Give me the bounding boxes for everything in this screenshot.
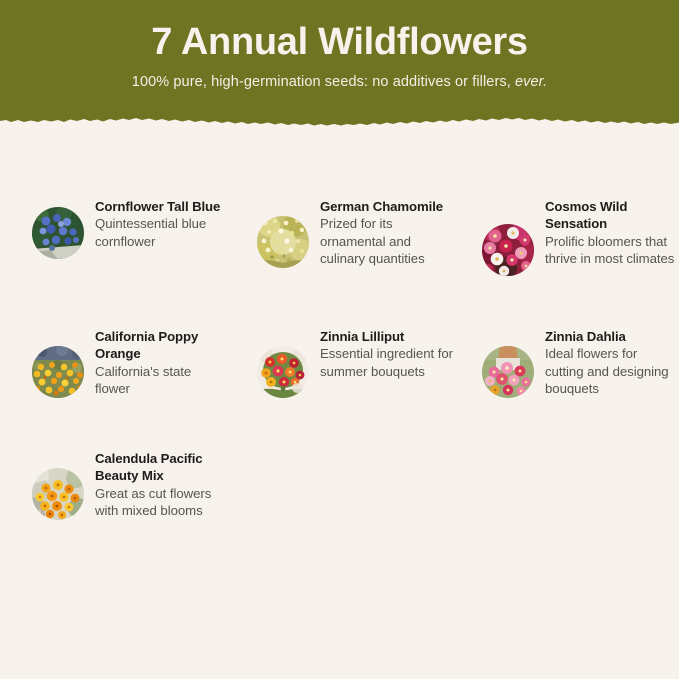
list-item[interactable]: California Poppy Orange California's sta… [32,328,229,398]
list-item-empty [257,450,454,520]
list-item[interactable]: Zinnia Lilliput Essential ingredient for… [257,328,454,398]
zinnia-lilliput-thumbnail [257,346,309,398]
flower-list: Cornflower Tall Blue Quintessential blue… [0,150,679,520]
list-item-description: Quintessential blue cornflower [95,215,229,250]
list-item-copy: Zinnia Dahlia Ideal flowers for cutting … [545,328,679,398]
list-item-title: Zinnia Dahlia [545,328,679,345]
list-item-copy: Cornflower Tall Blue Quintessential blue… [95,198,229,250]
list-item-description: Ideal flowers for cutting and designing … [545,345,679,397]
zinnia-dahlia-thumbnail [482,346,534,398]
calendula-pacific-beauty-mix-thumbnail [32,468,84,520]
list-item-copy: California Poppy Orange California's sta… [95,328,229,398]
list-item[interactable]: German Chamomile Prized for its ornament… [257,198,454,276]
list-item-title: Cornflower Tall Blue [95,198,229,215]
list-item-description: California's state flower [95,363,229,398]
list-item[interactable]: Zinnia Dahlia Ideal flowers for cutting … [482,328,679,398]
list-item-title: California Poppy Orange [95,328,229,363]
list-item[interactable]: Calendula Pacific Beauty Mix Great as cu… [32,450,229,520]
list-item-description: Prized for its ornamental and culinary q… [320,215,454,267]
page-subtitle: 100% pure, high-germination seeds: no ad… [132,74,547,90]
list-item[interactable]: Cornflower Tall Blue Quintessential blue… [32,198,229,276]
flower-row: Calendula Pacific Beauty Mix Great as cu… [0,450,679,520]
page-header: 7 Annual Wildflowers 100% pure, high-ger… [0,0,679,140]
list-item-empty [482,450,679,520]
list-item-title: Calendula Pacific Beauty Mix [95,450,229,485]
california-poppy-orange-thumbnail [32,346,84,398]
torn-paper-edge [0,107,679,141]
list-item[interactable]: Cosmos Wild Sensation Prolific bloomers … [482,198,679,276]
page-subtitle-main: 100% pure, high-germination seeds: no ad… [132,74,511,90]
page-subtitle-emphasis: ever. [515,74,547,90]
flower-row: California Poppy Orange California's sta… [0,328,679,398]
list-item-description: Essential ingredient for summer bouquets [320,345,454,380]
cosmos-wild-sensation-thumbnail [482,224,534,276]
cornflower-tall-blue-thumbnail [32,207,84,259]
list-item-copy: German Chamomile Prized for its ornament… [320,198,454,268]
german-chamomile-thumbnail [257,216,309,268]
page-title: 7 Annual Wildflowers [151,22,528,64]
flower-row: Cornflower Tall Blue Quintessential blue… [0,198,679,276]
list-item-copy: Cosmos Wild Sensation Prolific bloomers … [545,198,679,268]
list-item-title: German Chamomile [320,198,454,215]
list-item-description: Prolific bloomers that thrive in most cl… [545,233,679,268]
header-text-block: 7 Annual Wildflowers 100% pure, high-ger… [0,0,679,120]
list-item-description: Great as cut flowers with mixed blooms [95,485,229,520]
list-item-title: Cosmos Wild Sensation [545,198,679,233]
list-item-title: Zinnia Lilliput [320,328,454,345]
list-item-copy: Calendula Pacific Beauty Mix Great as cu… [95,450,229,520]
list-item-copy: Zinnia Lilliput Essential ingredient for… [320,328,454,380]
